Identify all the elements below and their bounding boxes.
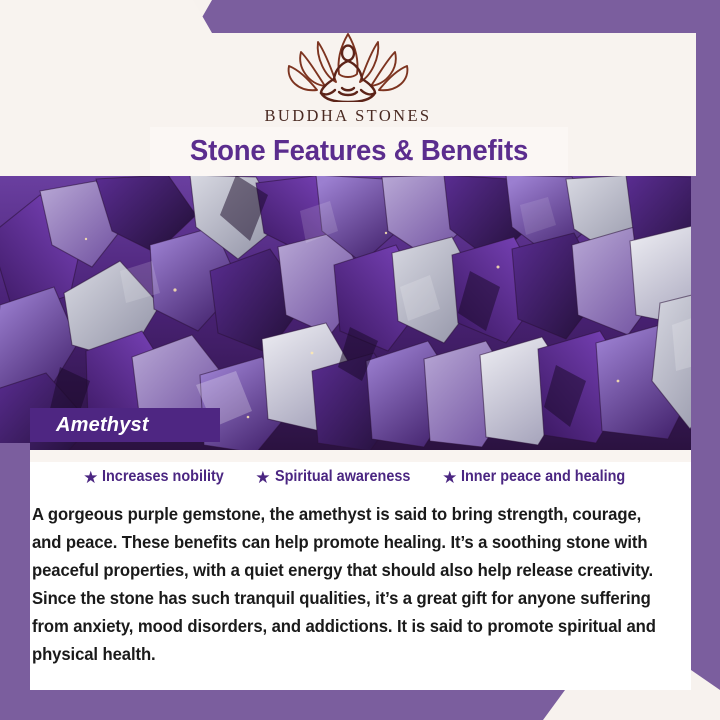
benefits-row: ★ Increases nobility ★ Spiritual awarene… [30, 468, 691, 486]
content-top-tint [30, 450, 691, 462]
brand-logo: BUDDHA STONES [0, 30, 696, 126]
frame-band-left [0, 443, 30, 720]
benefit-item: ★ Increases nobility [83, 468, 233, 486]
stone-name: Amethyst [30, 414, 149, 437]
star-icon: ★ [442, 469, 457, 486]
page-title-plate: Stone Features & Benefits [150, 127, 568, 176]
benefit-label: Increases nobility [102, 468, 224, 486]
benefit-item: ★ Spiritual awareness [255, 468, 420, 486]
frame-band-top [193, 0, 720, 33]
star-icon: ★ [255, 469, 270, 486]
benefit-label: Inner peace and healing [461, 468, 625, 486]
brand-wordmark: BUDDHA STONES [264, 106, 431, 126]
page-title: Stone Features & Benefits [190, 135, 528, 168]
benefit-label: Spiritual awareness [275, 468, 410, 486]
stone-name-banner: Amethyst [30, 408, 220, 442]
lotus-meditation-figure-icon [273, 30, 423, 102]
content-card: ★ Increases nobility ★ Spiritual awarene… [30, 450, 691, 690]
stone-description: A gorgeous purple gemstone, the amethyst… [32, 500, 664, 668]
star-icon: ★ [83, 469, 98, 486]
infographic-page: BUDDHA STONES Stone Features & Benefits … [0, 0, 720, 720]
frame-band-bottom [0, 690, 565, 720]
benefit-item: ★ Inner peace and healing [442, 468, 638, 486]
